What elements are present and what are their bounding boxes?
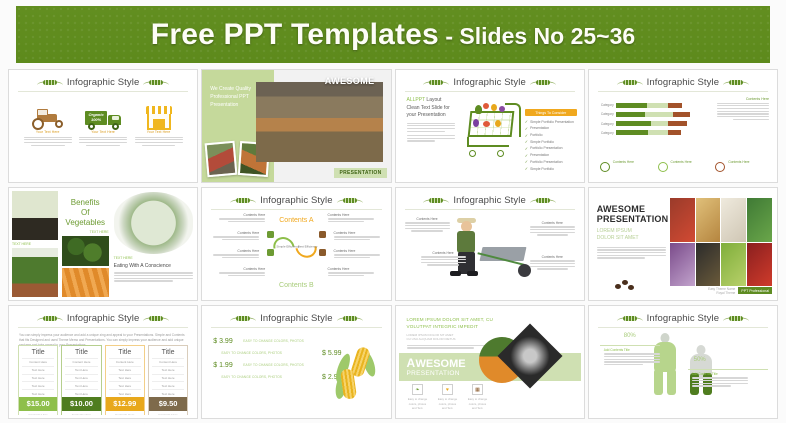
- market-photo: [256, 82, 383, 162]
- wheat-icon-left: [617, 79, 643, 86]
- corn-illustration: [338, 347, 382, 397]
- wheat-ring-icon: [715, 162, 725, 172]
- wheat-icon-left: [230, 315, 256, 322]
- contents-a-label: Contents A: [279, 217, 313, 224]
- shop-storefront-icon: [146, 106, 172, 130]
- photo-cell: [747, 198, 772, 242]
- stat-percent: 80%: [624, 333, 636, 339]
- check-icon: ✓: [525, 166, 528, 171]
- wheat-icon-left: [37, 315, 63, 322]
- entry-heading: EASY TO CHANGE COLORS, PHOTOS: [221, 375, 282, 379]
- price-entry: $ 2.99 EASY TO CHANGE COLORS, PHOTOS: [213, 374, 341, 381]
- broccoli-photo: [62, 236, 109, 266]
- photo-caption: TEXT HERE: [62, 230, 109, 234]
- slide-thumbnail-28[interactable]: Infographic Style Category Category Cate…: [588, 69, 778, 183]
- stat-heading: Add Contents Title: [692, 372, 748, 376]
- card-row: Text Here: [22, 381, 54, 389]
- check-icon: ✓: [525, 159, 528, 164]
- slide-thumbnail-32[interactable]: AWESOME PRESENTATION LOREM IPSUM DOLOR S…: [588, 187, 778, 301]
- bottom-item: Contents Here: [715, 159, 768, 172]
- herb-photo: [12, 248, 58, 297]
- card-footer: Contents Here: [149, 411, 187, 415]
- photo-cell: [696, 243, 721, 287]
- divider: [405, 91, 575, 92]
- divider: [18, 91, 188, 92]
- card-title: Title: [106, 346, 144, 358]
- photo-cell: [696, 198, 721, 242]
- check-icon: ✓: [525, 133, 528, 138]
- stat-block: Add Contents Title: [692, 372, 748, 388]
- footer-badge: PPT Professional: [738, 287, 772, 294]
- stat-heading: Add Contents Title: [604, 348, 660, 352]
- slide-title: Infographic Style: [260, 195, 332, 206]
- card-row: Text Here: [109, 381, 141, 389]
- check-icon: ✓: [525, 139, 528, 144]
- photo-cell: [747, 243, 772, 287]
- list-item: ✓Simple Portfolio: [525, 166, 577, 171]
- wheat-header: Infographic Style: [205, 191, 387, 206]
- wheat-icon-right: [143, 315, 169, 322]
- callout-heading: Contents Here: [421, 251, 466, 255]
- card-row: Text Here: [22, 366, 54, 374]
- slide-title: Infographic Style: [647, 77, 719, 88]
- item-heading: Contents Here: [219, 267, 265, 271]
- card-row: Text Here: [22, 389, 54, 397]
- entry-heading: EASY TO CHANGE COLORS, PHOTOS: [243, 339, 304, 343]
- page-header-banner: Free PPT Templates - Slides No 25~36: [16, 6, 770, 63]
- card-row: Content Here: [152, 358, 184, 366]
- callout-heading: Contents Here: [530, 255, 575, 259]
- slide-thumbnail-31[interactable]: Infographic Style Contents Here Contents…: [395, 187, 585, 301]
- card-footer: Contents Here: [62, 411, 100, 415]
- slide-thumbnail-34[interactable]: Infographic Style $ 3.99 EASY TO CHANGE …: [201, 305, 391, 419]
- wheat-header: Infographic Style: [205, 309, 387, 324]
- cycle-label-left: Simple Efficiency: [276, 244, 299, 248]
- slide-thumbnail-grid: Infographic Style Your Text Here Organic…: [6, 69, 780, 419]
- photo-cell: [721, 243, 746, 287]
- leaf-icon: ❧: [412, 384, 423, 395]
- list-item: ✓Simple Portfolio Presentation: [525, 119, 577, 124]
- card-row: Content Here: [109, 358, 141, 366]
- slide-title: Benefits Of Vegetables: [62, 198, 109, 228]
- card-row: Text Here: [109, 374, 141, 382]
- card-row: Text Here: [65, 366, 97, 374]
- slide-thumbnail-36[interactable]: Infographic Style 80%: [588, 305, 778, 419]
- item-heading: Your Text Here: [24, 130, 72, 135]
- slide-title: Infographic Style: [647, 313, 719, 324]
- checklist: Things To Consider ✓Simple Portfolio Pre…: [525, 109, 577, 173]
- photo-cell: [670, 243, 695, 287]
- card-row: Text Here: [22, 374, 54, 382]
- salad-photo: [114, 192, 194, 254]
- wheat-icon-left: [423, 79, 449, 86]
- shopping-cart-icon: [461, 95, 527, 157]
- truck-badge-line2: 100%: [91, 118, 101, 123]
- divider: [18, 327, 188, 328]
- feature-caption: Easy to change colors, photos and Text.: [467, 397, 489, 410]
- chart-icon: ▦: [472, 384, 483, 395]
- card-row: Text Here: [65, 381, 97, 389]
- price-list: $ 3.99 EASY TO CHANGE COLORS, PHOTOS $ 5…: [213, 333, 341, 386]
- wheat-header: Infographic Style: [12, 309, 194, 324]
- carrot-photo: [62, 268, 109, 298]
- slide-thumbnail-30[interactable]: Infographic Style Contents A Contents B …: [201, 187, 391, 301]
- wheat-header: Infographic Style: [592, 73, 774, 88]
- pricing-card[interactable]: Title Content Here Text Here Text Here T…: [61, 345, 101, 415]
- slide-thumbnail-27[interactable]: Infographic Style ALLPPT Layout Clean Te…: [395, 69, 585, 183]
- item-heading: Your Text Here: [135, 130, 183, 135]
- wheat-icon-right: [723, 315, 749, 322]
- stat-percent: 50%: [694, 357, 706, 363]
- infographic-item: Your Text Here: [24, 104, 72, 147]
- card-row: Content Here: [65, 358, 97, 366]
- card-row: Content Here: [22, 358, 54, 366]
- card-price: $10.00: [62, 397, 100, 411]
- slide-thumbnail-26[interactable]: We Create Quality Professional PPT Prese…: [201, 69, 391, 183]
- list-item: ✓Simple Portfolio: [525, 139, 577, 144]
- slide-title: Infographic Style: [67, 313, 139, 324]
- wheat-icon-left: [423, 197, 449, 204]
- wheat-icon-right: [530, 197, 556, 204]
- card-footer: Contents Here: [106, 411, 144, 415]
- item-heading: Contents Here: [213, 249, 259, 253]
- callout-heading: Contents Here: [530, 221, 575, 225]
- contents-b-label: Contents B: [279, 282, 314, 289]
- photo-cell: [721, 198, 746, 242]
- card-price: $15.00: [19, 397, 57, 411]
- footer-note: Easy Theme NameRoyal Theme: [708, 287, 735, 295]
- list-item: ✓Portfolio: [525, 133, 577, 138]
- list-item: ✓Portfolio Presentation: [525, 159, 577, 164]
- item-heading: Contents Here: [219, 213, 265, 217]
- footer-badge: PRESENTATION: [334, 168, 386, 178]
- entry-heading: EASY TO CHANGE COLORS, PHOTOS: [221, 351, 282, 355]
- list-item: ✓Portfolio Presentation: [525, 146, 577, 151]
- wheat-header: Infographic Style: [12, 73, 194, 88]
- photo-caption: TEXT HERE: [12, 242, 58, 246]
- card-price: $12.99: [106, 397, 144, 411]
- list-badge: Things To Consider: [525, 109, 577, 116]
- slide-headline: AWESOME PRESENTATION: [407, 357, 466, 377]
- pricing-card[interactable]: Title Content Here Text Here Text Here T…: [18, 345, 58, 415]
- slide-title: Infographic Style: [453, 77, 525, 88]
- feature-item: ❧Easy to change colors, photos and Text.: [407, 384, 429, 410]
- divider: [405, 209, 575, 210]
- list-item: ✓Presentation: [525, 153, 577, 158]
- subheading: Eating With A Conscience: [114, 263, 194, 269]
- bar-row: Category: [598, 103, 690, 109]
- card-row: Text Here: [65, 374, 97, 382]
- card-row: Text Here: [109, 389, 141, 397]
- feature-item: ♥Easy to change colors, photos and Text.: [437, 384, 459, 410]
- card-row: Text Here: [65, 389, 97, 397]
- item-heading: Contents Here: [213, 231, 259, 235]
- feature-caption: Easy to change colors, photos and Text.: [407, 397, 429, 410]
- wheat-header: Infographic Style: [399, 73, 581, 88]
- divider: [211, 209, 381, 210]
- list-item: ✓Presentation: [525, 126, 577, 131]
- card-title: Title: [19, 346, 57, 358]
- check-icon: ✓: [525, 146, 528, 151]
- photo-caption: TEXT HERE: [114, 256, 194, 260]
- slide-headline: AWESOME: [325, 76, 375, 86]
- photo-thumbnail: [205, 141, 238, 177]
- slide-thumbnail-25[interactable]: Infographic Style Your Text Here Organic…: [8, 69, 198, 183]
- divider: [211, 327, 381, 328]
- pricing-card[interactable]: Title Content Here Text Here Text Here T…: [148, 345, 188, 415]
- heart-icon: ♥: [442, 384, 453, 395]
- feature-caption: Easy to change colors, photos and Text.: [437, 397, 459, 410]
- card-row: Text Here: [152, 389, 184, 397]
- price-entry: $ 5.99 EASY TO CHANGE COLORS, PHOTOS: [213, 350, 341, 357]
- card-row: Text Here: [152, 374, 184, 382]
- card-title: Title: [149, 346, 187, 358]
- check-icon: ✓: [525, 153, 528, 158]
- cycle-label-right: Best Efficiency: [298, 244, 318, 248]
- leaf-ring-icon: [600, 162, 610, 172]
- pricing-card[interactable]: Title Content Here Text Here Text Here T…: [105, 345, 145, 415]
- check-icon: ✓: [525, 126, 528, 131]
- card-title: Title: [62, 346, 100, 358]
- callout-heading: Contents Here: [405, 217, 450, 221]
- wheat-header: Infographic Style: [399, 191, 581, 206]
- pricing-table: Title Content Here Text Here Text Here T…: [18, 345, 188, 415]
- wheat-icon-left: [617, 315, 643, 322]
- item-heading: Contents Here: [334, 231, 380, 235]
- tractor-icon: [31, 108, 65, 130]
- price-value: $ 3.99: [213, 338, 239, 345]
- check-icon: ✓: [525, 119, 528, 124]
- page-title-sub: - Slides No 25~36: [439, 23, 635, 49]
- wheat-icon-right: [337, 315, 363, 322]
- wheat-icon-right: [530, 79, 556, 86]
- templates-preview-page: Free PPT Templates - Slides No 25~36 Inf…: [0, 0, 786, 423]
- slide-title: Infographic Style: [453, 195, 525, 206]
- card-footer: Contents Here: [19, 411, 57, 415]
- item-heading: Contents Here: [328, 213, 374, 217]
- wheat-icon-right: [337, 197, 363, 204]
- item-heading: Your Text Here: [79, 130, 127, 135]
- card-row: Text Here: [152, 366, 184, 374]
- wheat-header: Infographic Style: [592, 309, 774, 324]
- slide-thumbnail-35[interactable]: LOREM IPSUM DOLOR SIT AMET, CU VOLUTPAT …: [395, 305, 585, 419]
- item-heading: Contents Here: [671, 160, 692, 164]
- bar-chart: Category Category Category Category: [598, 99, 690, 139]
- top-heading: LOREM IPSUM DOLOR SIT AMET, CU VOLUTPAT …: [407, 317, 573, 331]
- entry-heading: EASY TO CHANGE COLORS, PHOTOS: [243, 363, 304, 367]
- card-row: Text Here: [109, 366, 141, 374]
- card-price: $9.50: [149, 397, 187, 411]
- brand-name: ALLPPT: [407, 97, 426, 103]
- photo-cell: [670, 198, 695, 242]
- slide-title: Infographic Style: [67, 77, 139, 88]
- page-title: Free PPT Templates - Slides No 25~36: [151, 18, 635, 52]
- lead-text: ALLPPT Layout Clean Text Slide for your …: [407, 97, 455, 120]
- price-entry: $ 1.99 EASY TO CHANGE COLORS, PHOTOS: [213, 362, 341, 369]
- bar-row: Category: [598, 130, 690, 136]
- fruit-photo-grid: [670, 198, 772, 286]
- wheat-icon-left: [230, 197, 256, 204]
- wheat-icon-right: [143, 79, 169, 86]
- cycle-diagram: Simple Efficiency Best Efficiency: [273, 237, 319, 259]
- item-heading: Contents Here: [328, 267, 374, 271]
- infographic-item: Organic100% Your Text Here: [79, 104, 127, 147]
- price-value: $ 1.99: [213, 362, 239, 369]
- sprouts-photo: [12, 191, 58, 240]
- slide-thumbnail-33[interactable]: Infographic Style You can simply impress…: [8, 305, 198, 419]
- wheat-icon-left: [37, 79, 63, 86]
- slide-title: AWESOME PRESENTATION: [597, 204, 666, 225]
- side-heading: Contents Here: [717, 97, 769, 101]
- bottom-item: Contents Here: [658, 159, 711, 172]
- item-heading: Contents Here: [613, 160, 634, 164]
- infographic-item: Your Text Here: [135, 104, 183, 147]
- bar-row: Category: [598, 112, 690, 118]
- price-entry: $ 3.99 EASY TO CHANGE COLORS, PHOTOS: [213, 338, 341, 345]
- feature-item: ▦Easy to change colors, photos and Text.: [467, 384, 489, 410]
- wheelbarrow-illustration: [481, 247, 531, 277]
- bottom-item: Contents Here: [600, 159, 653, 172]
- stat-block: Add Contents Title: [604, 348, 660, 367]
- card-row: Text Here: [152, 381, 184, 389]
- slide-subtitle: LOREM IPSUM DOLOR SIT AMET: [597, 228, 666, 242]
- bar-row: Category: [598, 121, 690, 127]
- divider: [598, 327, 768, 328]
- item-heading: Contents Here: [334, 249, 380, 253]
- item-heading: Contents Here: [728, 160, 749, 164]
- divider: [598, 91, 768, 92]
- slide-title: Infographic Style: [260, 313, 332, 324]
- wheat-icon-right: [723, 79, 749, 86]
- page-title-main: Free PPT Templates: [151, 18, 439, 51]
- olive-icon: [615, 280, 637, 290]
- slide-thumbnail-29[interactable]: TEXT HERE Benefits Of Vegetables TEXT HE…: [8, 187, 198, 301]
- apple-ring-icon: [658, 162, 668, 172]
- delivery-truck-icon: Organic100%: [85, 110, 121, 130]
